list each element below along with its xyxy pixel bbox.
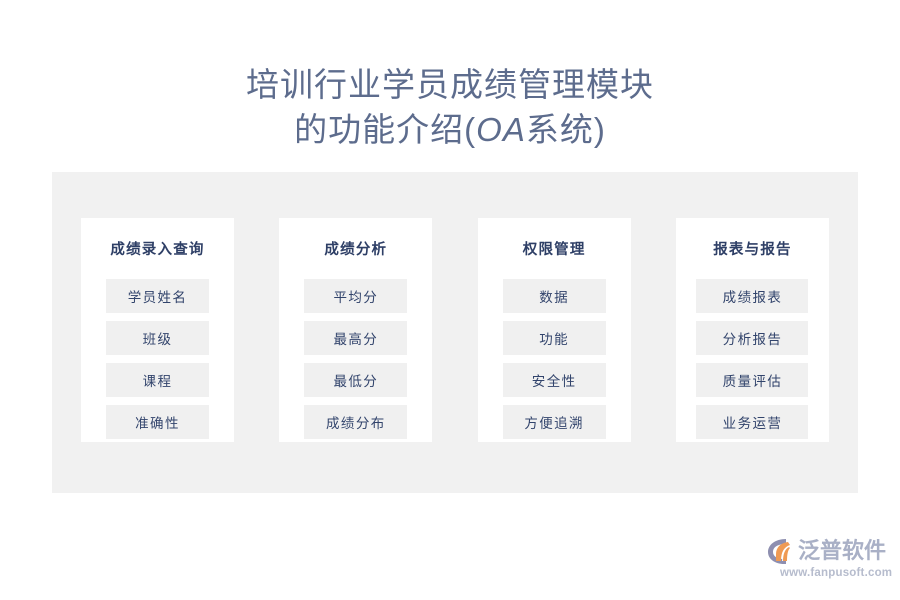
feature-pill[interactable]: 成绩报表 [696, 279, 808, 313]
page-title: 培训行业学员成绩管理模块 的功能介绍(OA系统) [0, 0, 900, 152]
feature-pill[interactable]: 准确性 [106, 405, 209, 439]
fanpu-logo-icon [766, 537, 796, 565]
card-title: 报表与报告 [713, 240, 792, 260]
title-line-2-prefix: 的功能介绍( [294, 111, 476, 148]
feature-pill[interactable]: 课程 [106, 363, 209, 397]
feature-pill[interactable]: 学员姓名 [106, 279, 209, 313]
feature-pill[interactable]: 安全性 [503, 363, 606, 397]
feature-pill[interactable]: 班级 [106, 321, 209, 355]
brand-wordmark: 泛普软件 [798, 538, 886, 564]
feature-pill[interactable]: 最高分 [304, 321, 407, 355]
card-title: 成绩录入查询 [110, 240, 204, 260]
feature-pill[interactable]: 成绩分布 [304, 405, 407, 439]
brand-url: www.fanpusoft.com [766, 566, 890, 580]
card-title: 权限管理 [523, 240, 586, 260]
feature-card-score-analysis: 成绩分析 平均分 最高分 最低分 成绩分布 [279, 218, 432, 442]
feature-pill[interactable]: 分析报告 [696, 321, 808, 355]
title-line-1: 培训行业学员成绩管理模块 [0, 62, 900, 107]
feature-card-reports: 报表与报告 成绩报表 分析报告 质量评估 业务运营 [676, 218, 829, 442]
feature-pill[interactable]: 平均分 [304, 279, 407, 313]
title-line-2: 的功能介绍(OA系统) [0, 107, 900, 152]
feature-pill[interactable]: 数据 [503, 279, 606, 313]
feature-cards-row: 成绩录入查询 学员姓名 班级 课程 准确性 成绩分析 平均分 最高分 最低分 成… [81, 218, 829, 442]
feature-card-score-entry: 成绩录入查询 学员姓名 班级 课程 准确性 [81, 218, 234, 442]
title-line-2-suffix: 系统) [526, 111, 606, 148]
brand-logo-row: 泛普软件 [766, 536, 890, 566]
card-title: 成绩分析 [324, 240, 387, 260]
feature-pill[interactable]: 最低分 [304, 363, 407, 397]
brand-logo: 泛普软件 www.fanpusoft.com [766, 536, 890, 584]
feature-pill[interactable]: 业务运营 [696, 405, 808, 439]
feature-panel: 成绩录入查询 学员姓名 班级 课程 准确性 成绩分析 平均分 最高分 最低分 成… [52, 172, 858, 493]
feature-pill[interactable]: 功能 [503, 321, 606, 355]
feature-pill[interactable]: 质量评估 [696, 363, 808, 397]
feature-pill[interactable]: 方便追溯 [503, 405, 606, 439]
feature-card-permission-management: 权限管理 数据 功能 安全性 方便追溯 [478, 218, 631, 442]
title-line-2-latin: OA [476, 111, 526, 148]
